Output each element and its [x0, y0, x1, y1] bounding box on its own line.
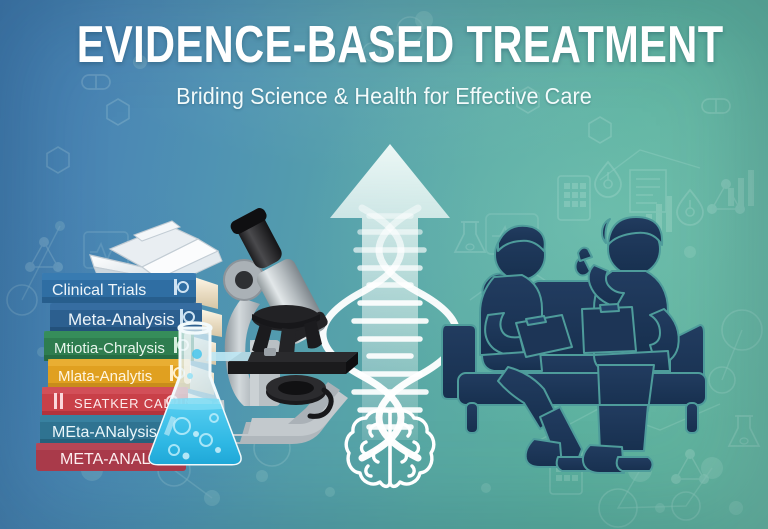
- banner-poster: EVIDENCE-BASED TREATMENT Briding Science…: [0, 0, 768, 529]
- page-subtitle: Briding Science & Health for Effective C…: [23, 83, 745, 110]
- flask-bubble: [192, 349, 202, 359]
- header: EVIDENCE-BASED TREATMENT Briding Science…: [0, 18, 768, 110]
- book-spine-label: Clinical Trials: [52, 282, 146, 299]
- therapy-session-illustration: [438, 205, 736, 485]
- brain-icon: [346, 410, 434, 486]
- flask-illustration: [140, 318, 250, 478]
- book-spine-label: Mlata-Analytis: [58, 368, 152, 385]
- therapist-silhouette: [576, 217, 679, 473]
- flask-liquid: [130, 398, 260, 474]
- page-title: EVIDENCE-BASED TREATMENT: [77, 18, 691, 73]
- flask-bubble: [187, 373, 193, 379]
